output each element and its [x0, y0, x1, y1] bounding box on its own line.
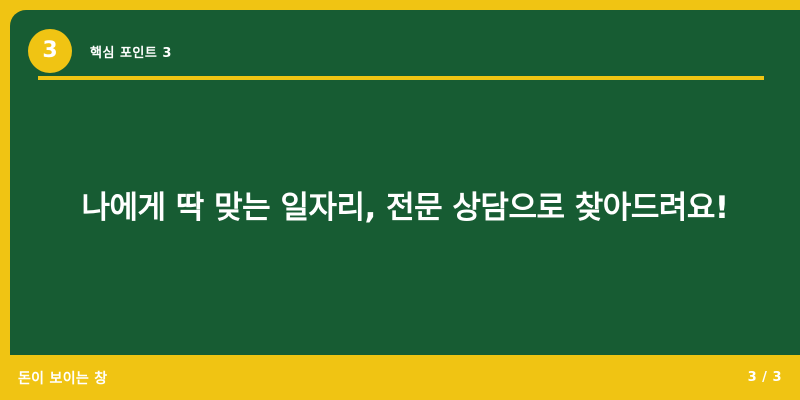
- footer-brand: 돈이 보이는 창: [18, 368, 107, 388]
- header-label: 핵심 포인트 3: [90, 42, 172, 61]
- headline-text: 나에게 딱 맞는 일자리, 전문 상담으로 찾아드려요!: [81, 188, 728, 230]
- slide-container: 3 핵심 포인트 3 나에게 딱 맞는 일자리, 전문 상담으로 찾아드려요! …: [0, 0, 800, 400]
- slide-card: 3 핵심 포인트 3 나에게 딱 맞는 일자리, 전문 상담으로 찾아드려요!: [10, 10, 800, 355]
- slide-footer: 돈이 보이는 창 3 / 3: [0, 355, 800, 400]
- slide-header: 3 핵심 포인트 3: [10, 10, 800, 90]
- headline-area: 나에게 딱 맞는 일자리, 전문 상담으로 찾아드려요!: [10, 90, 800, 355]
- footer-page-indicator: 3 / 3: [748, 370, 782, 385]
- step-badge: 3: [28, 29, 72, 73]
- header-divider: [38, 76, 764, 80]
- step-badge-number: 3: [42, 40, 57, 62]
